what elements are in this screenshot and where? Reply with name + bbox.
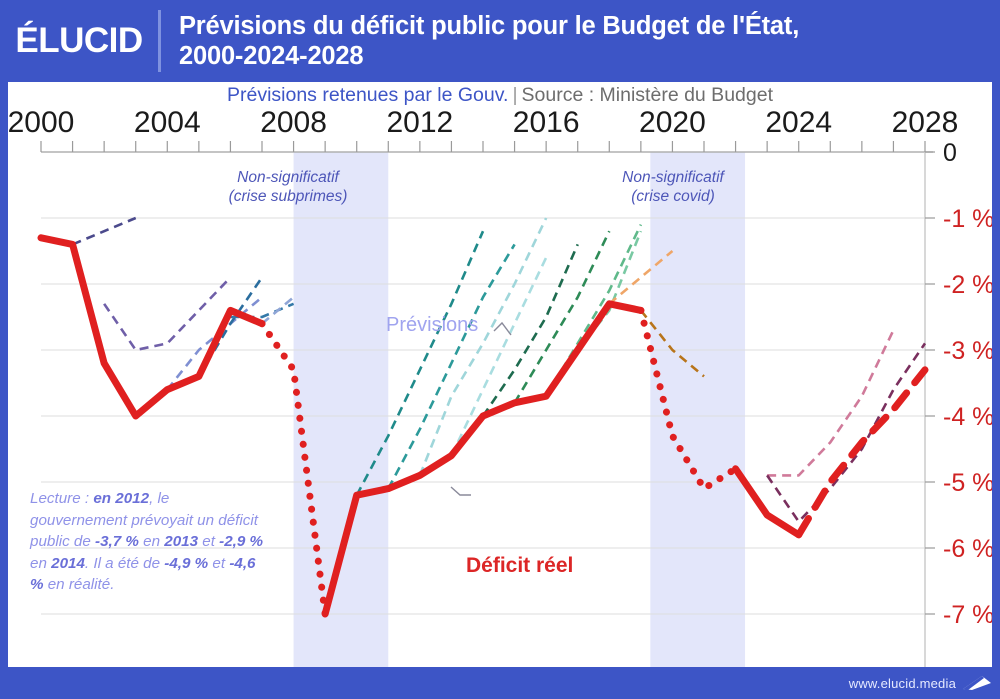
- previsions-series-label: Prévisions: [386, 314, 478, 337]
- y-tick-label-5: -5 %: [943, 469, 992, 497]
- band-note-covid-line2: (crise covid): [573, 187, 773, 206]
- y-tick-label-4: -4 %: [943, 403, 992, 431]
- lecture-part-4: en: [139, 533, 164, 550]
- x-tick-label-6: 2024: [765, 106, 832, 139]
- lecture-part-10: . Il a été de: [85, 555, 164, 572]
- lecture-part-12: et: [208, 555, 229, 572]
- forecast-line-6: [73, 218, 136, 244]
- actual-line-5: [799, 370, 925, 535]
- x-tick-label-0: 2000: [8, 106, 74, 139]
- x-tick-label-5: 2020: [639, 106, 706, 139]
- forecast-line-15: [451, 258, 546, 456]
- elucid-logo: ÉLUCID: [0, 0, 158, 82]
- deficit-reel-series-label: Déficit réel: [466, 554, 573, 578]
- arrow-icon: [962, 675, 992, 691]
- forecast-line-22: [767, 330, 893, 475]
- lecture-part-9: 2014: [51, 555, 85, 572]
- x-tick-label-2: 2008: [260, 106, 327, 139]
- title-line-1: Prévisions du déficit public pour le Bud…: [179, 11, 799, 41]
- forecast-line-23: [767, 343, 925, 521]
- band-note-subprimes: Non-significatif (crise subprimes): [188, 168, 388, 206]
- y-tick-label-6: -6 %: [943, 535, 992, 563]
- y-tick-label-2: -2 %: [943, 271, 992, 299]
- x-tick-label-1: 2004: [134, 106, 201, 139]
- band-note-covid: Non-significatif (crise covid): [573, 168, 773, 206]
- chart-page: ÉLUCID Prévisions du déficit public pour…: [0, 0, 1000, 699]
- y-tick-label-1: -1 %: [943, 205, 992, 233]
- lecture-annotation: Lecture : en 2012, le gouvernement prévo…: [30, 488, 270, 596]
- band-note-covid-line1: Non-significatif: [573, 168, 773, 187]
- band-note-subprimes-line2: (crise subprimes): [188, 187, 388, 206]
- actual-line-0: [41, 238, 262, 416]
- shaded-band-0: [294, 152, 389, 667]
- lecture-part-7: -2,9 %: [219, 533, 263, 550]
- chart-card: Prévisions retenues par le Gouv.|Source …: [8, 82, 992, 667]
- lecture-part-11: -4,9 %: [164, 555, 208, 572]
- lecture-part-6: et: [198, 533, 219, 550]
- title-line-2: 2000-2024-2028: [179, 41, 799, 71]
- y-tick-label-3: -3 %: [943, 337, 992, 365]
- logo-text: ÉLUCID: [15, 21, 142, 61]
- previsions-leader-line: [494, 323, 511, 335]
- lecture-part-0: Lecture :: [30, 490, 93, 507]
- page-title: Prévisions du déficit public pour le Bud…: [161, 11, 809, 71]
- lecture-part-8: en: [30, 555, 51, 572]
- x-tick-label-7: 2028: [892, 106, 959, 139]
- lecture-part-1: en 2012: [93, 490, 149, 507]
- forecast-line-11: [262, 297, 294, 323]
- lecture-part-14: en réalité.: [44, 576, 115, 593]
- x-tick-label-4: 2016: [513, 106, 580, 139]
- lecture-part-5: 2013: [164, 533, 198, 550]
- y-tick-label-0: 0: [943, 139, 957, 167]
- footer-bar: www.elucid.media: [0, 667, 1000, 699]
- y-tick-label-7: -7 %: [943, 601, 992, 629]
- deficit-leader-line: [451, 487, 471, 495]
- forecast-line-16: [483, 244, 578, 416]
- lecture-part-3: -3,7 %: [95, 533, 139, 550]
- x-tick-label-3: 2012: [386, 106, 453, 139]
- header-bar: ÉLUCID Prévisions du déficit public pour…: [0, 0, 1000, 82]
- watermark-text: www.elucid.media: [849, 676, 956, 691]
- band-note-subprimes-line1: Non-significatif: [188, 168, 388, 187]
